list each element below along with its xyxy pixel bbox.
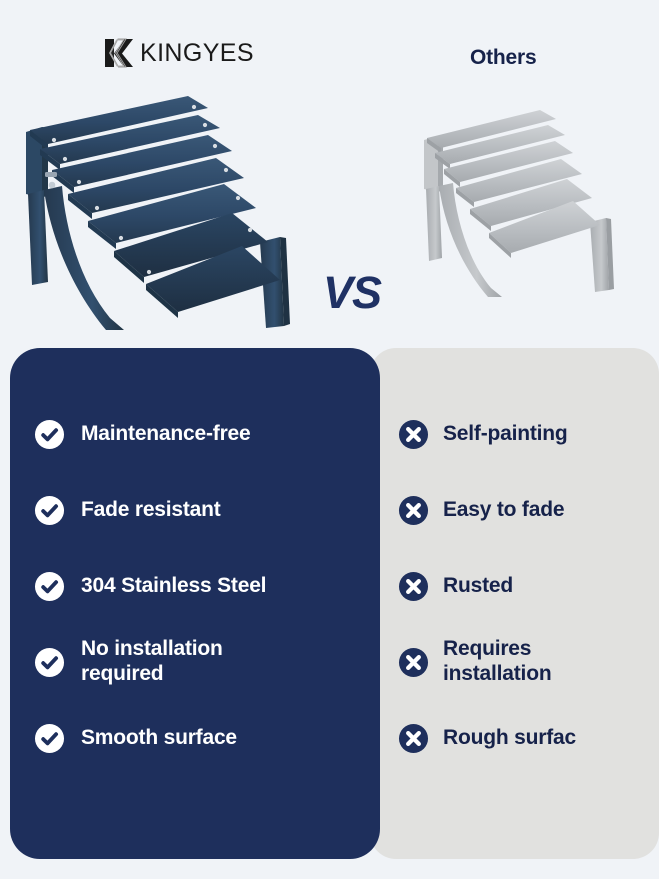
list-item: Easy to fade bbox=[370, 472, 659, 548]
list-item: Rusted bbox=[370, 548, 659, 624]
kingyes-k-logo-icon bbox=[103, 37, 137, 69]
list-item-label: Maintenance-free bbox=[81, 422, 251, 447]
x-circle-icon bbox=[398, 419, 429, 450]
brand-name: KINGYES bbox=[140, 41, 254, 66]
header: KINGYES Others bbox=[0, 0, 659, 92]
product-image-kingyes bbox=[8, 94, 308, 334]
x-circle-icon bbox=[398, 495, 429, 526]
list-item: Smooth surface bbox=[10, 700, 380, 776]
list-item-label: Self-painting bbox=[443, 422, 568, 447]
list-item: Maintenance-free bbox=[10, 396, 380, 472]
list-item-label: Easy to fade bbox=[443, 498, 564, 523]
list-item: Rough surfac bbox=[370, 700, 659, 776]
kingyes-feature-list: Maintenance-free Fade resistant 304 Stai… bbox=[10, 348, 380, 859]
list-item-label: Rough surfac bbox=[443, 726, 576, 751]
list-item-label: Rusted bbox=[443, 574, 513, 599]
list-item-label: 304 Stainless Steel bbox=[81, 574, 266, 599]
check-circle-icon bbox=[34, 495, 65, 526]
list-item-label: No installation required bbox=[81, 637, 281, 687]
x-circle-icon bbox=[398, 723, 429, 754]
check-circle-icon bbox=[34, 571, 65, 602]
list-item: 304 Stainless Steel bbox=[10, 548, 380, 624]
list-item: Self-painting bbox=[370, 396, 659, 472]
others-feature-list: Self-painting Easy to fade Rusted bbox=[370, 348, 659, 859]
check-circle-icon bbox=[34, 723, 65, 754]
list-item-label: Smooth surface bbox=[81, 726, 237, 751]
list-item: Fade resistant bbox=[10, 472, 380, 548]
check-circle-icon bbox=[34, 419, 65, 450]
others-feature-panel: Self-painting Easy to fade Rusted bbox=[370, 348, 659, 859]
product-comparison-row: VS bbox=[0, 92, 659, 342]
product-image-others bbox=[412, 106, 627, 306]
kingyes-feature-panel: Maintenance-free Fade resistant 304 Stai… bbox=[10, 348, 380, 859]
others-title: Others bbox=[470, 46, 537, 70]
brand-logo: KINGYES bbox=[103, 36, 254, 70]
check-circle-icon bbox=[34, 647, 65, 678]
x-circle-icon bbox=[398, 571, 429, 602]
comparison-panels: Self-painting Easy to fade Rusted bbox=[0, 348, 659, 859]
list-item: Requires installation bbox=[370, 624, 659, 700]
x-circle-icon bbox=[398, 647, 429, 678]
list-item-label: Requires installation bbox=[443, 637, 613, 687]
list-item-label: Fade resistant bbox=[81, 498, 221, 523]
vs-badge: VS bbox=[323, 270, 381, 315]
list-item: No installation required bbox=[10, 624, 380, 700]
